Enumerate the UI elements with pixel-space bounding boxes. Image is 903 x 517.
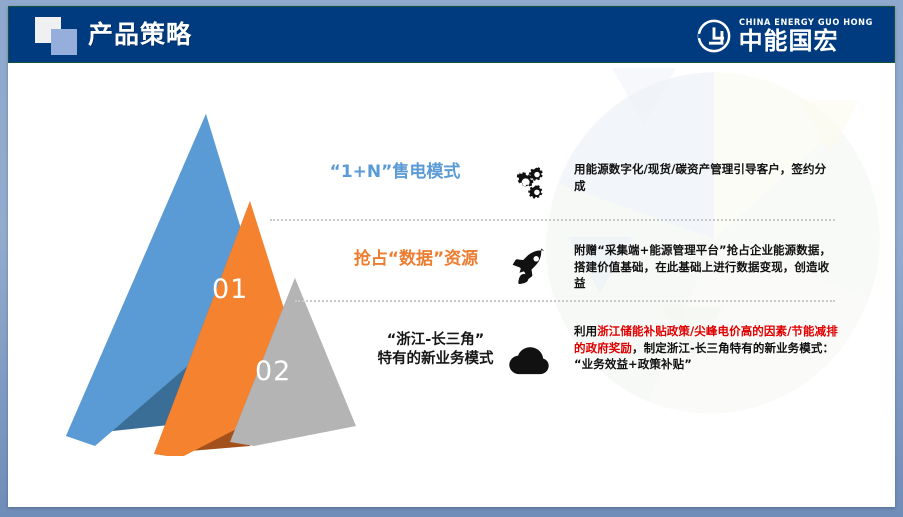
company-logo: CHINA ENERGY GUO HONG 中能国宏 [696,16,878,56]
header-bar: 产品策略 CHINA ENERGY GUO HONG 中能国宏 [8,6,895,63]
header-decor-squares [35,17,81,55]
row-2-title: 抢占“数据”资源 [316,248,516,270]
logo-chinese-name: 中能国宏 [739,29,878,53]
row-divider-2 [295,300,835,302]
row-3-title: “浙江-长三角” 特有的新业务模式 [348,331,523,369]
row-2-body: 附赠“采集端+能源管理平台”抢占企业能源数据，搭建价值基础，在此基础上进行数据变… [574,242,836,292]
square-blue-icon [51,29,77,55]
row-3-body: 利用浙江储能补贴政策/尖峰电价高的因素/节能减排的政府奖励，制定浙江-长三角特有… [574,323,839,373]
body-text: 附赠“采集端+能源管理平台”抢占企业能源数据，搭建价值基础，在此基础上进行数据变… [574,243,831,290]
rocket-icon [508,246,550,288]
page-title: 产品策略 [88,20,192,50]
row-divider-1 [270,219,835,221]
gears-icon [505,162,547,204]
circle-g-logo-icon [696,18,732,54]
row-1-body: 用能源数字化/现货/碳资产管理引导客户，签约分成 [574,161,836,194]
pyramid-svg [58,106,398,456]
row-1-title: “1+N”售电模式 [280,161,510,183]
body-text: “业务效益+政策补贴” [574,357,692,371]
slide-canvas: 产品策略 CHINA ENERGY GUO HONG 中能国宏 [8,6,895,507]
body-text: 利用 [574,324,597,338]
slide-frame: 产品策略 CHINA ENERGY GUO HONG 中能国宏 [0,0,903,517]
logo-wordmark: CHINA ENERGY GUO HONG 中能国宏 [739,19,878,54]
cloud-icon [508,342,550,384]
pyramid-diagram: 01 02 03 [58,106,398,456]
body-text: ，制定浙江-长三角特有的新业务模式： [632,341,834,355]
logo-english-name: CHINA ENERGY GUO HONG [739,19,873,28]
